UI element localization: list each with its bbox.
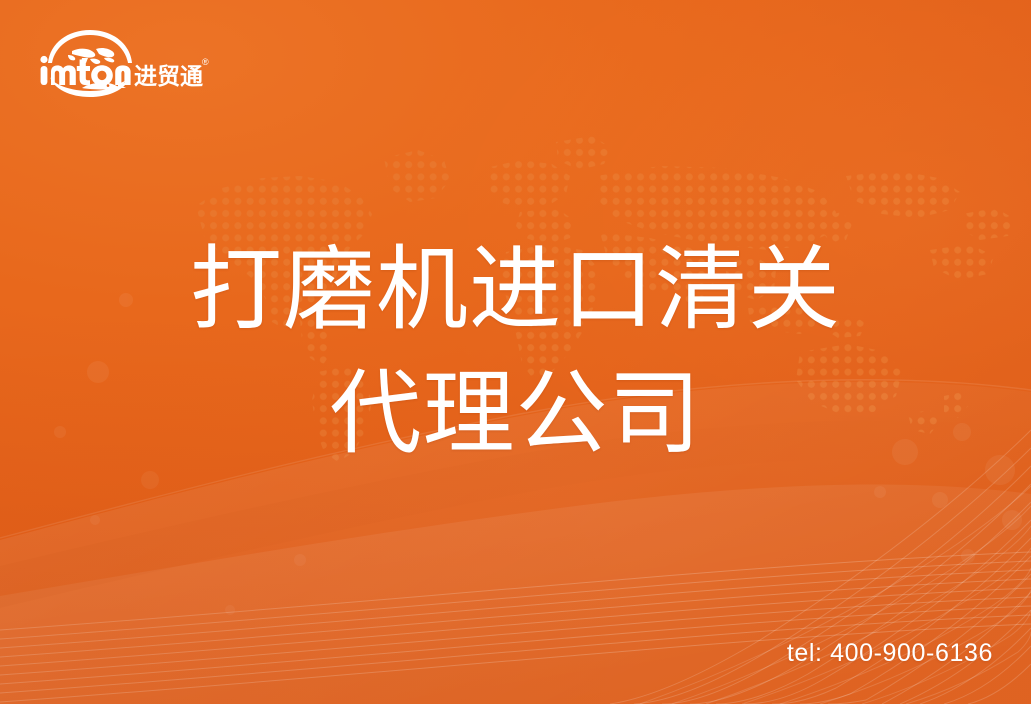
registered-mark: ® xyxy=(202,57,209,67)
promo-banner: 进贸通 ® 打磨机进口清关 代理公司 tel: 400-900-6136 xyxy=(0,0,1031,704)
logo-chinese-name: 进贸通 xyxy=(134,63,203,89)
globe-arc-icon xyxy=(48,30,132,64)
imton-logo[interactable]: 进贸通 ® xyxy=(38,27,214,99)
headline-line-2: 代理公司 xyxy=(0,352,1031,476)
page-title: 打磨机进口清关 代理公司 xyxy=(0,228,1031,476)
contact-phone: tel: 400-900-6136 xyxy=(787,639,993,668)
headline-line-1: 打磨机进口清关 xyxy=(0,228,1031,352)
imton-wordmark xyxy=(40,56,130,86)
